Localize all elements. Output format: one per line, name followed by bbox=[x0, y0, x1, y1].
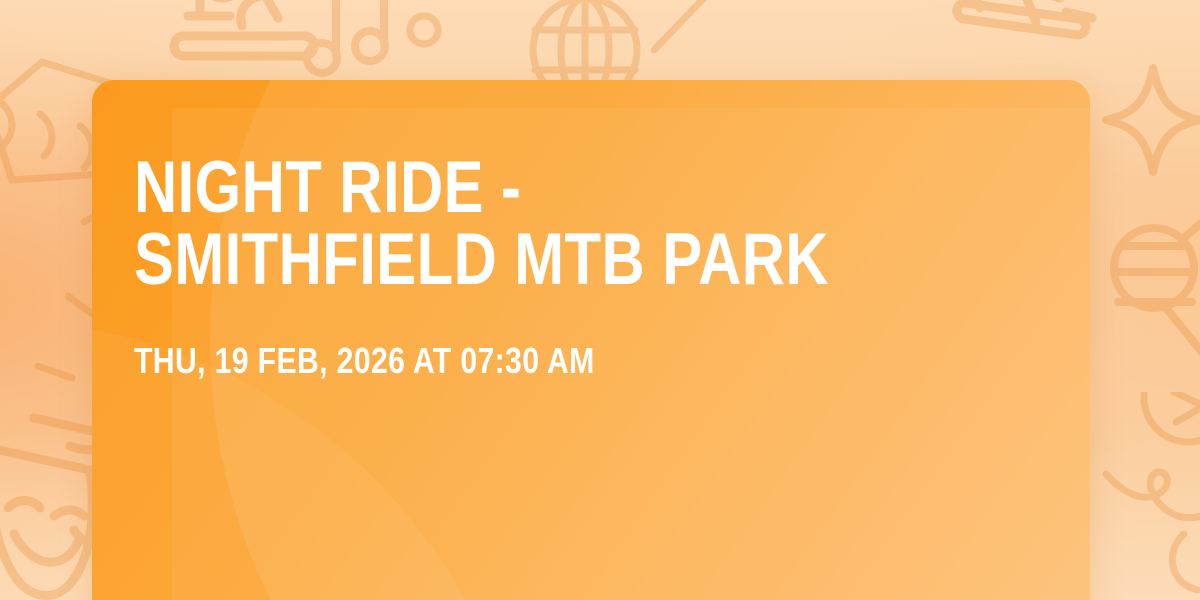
card-content: Night Ride - Smithfield MTB Park Thu, 19… bbox=[134, 152, 1030, 381]
small-circle-doodle bbox=[402, 8, 446, 52]
balloon-doodle bbox=[940, 0, 1110, 74]
sparkle-doodle bbox=[1098, 60, 1200, 180]
magic-wand-doodle bbox=[640, 0, 730, 64]
event-banner-stage: Night Ride - Smithfield MTB Park Thu, 19… bbox=[0, 0, 1200, 600]
event-hero-card[interactable]: Night Ride - Smithfield MTB Park Thu, 19… bbox=[92, 80, 1090, 600]
event-title: Night Ride - Smithfield MTB Park bbox=[134, 152, 869, 295]
music-note-doodle bbox=[296, 0, 406, 80]
event-date-time: Thu, 19 Feb, 2026 at 07:30 AM bbox=[134, 341, 887, 381]
ribbon-swirl-doodle bbox=[1078, 392, 1200, 600]
microphone-doodle bbox=[1106, 216, 1200, 386]
